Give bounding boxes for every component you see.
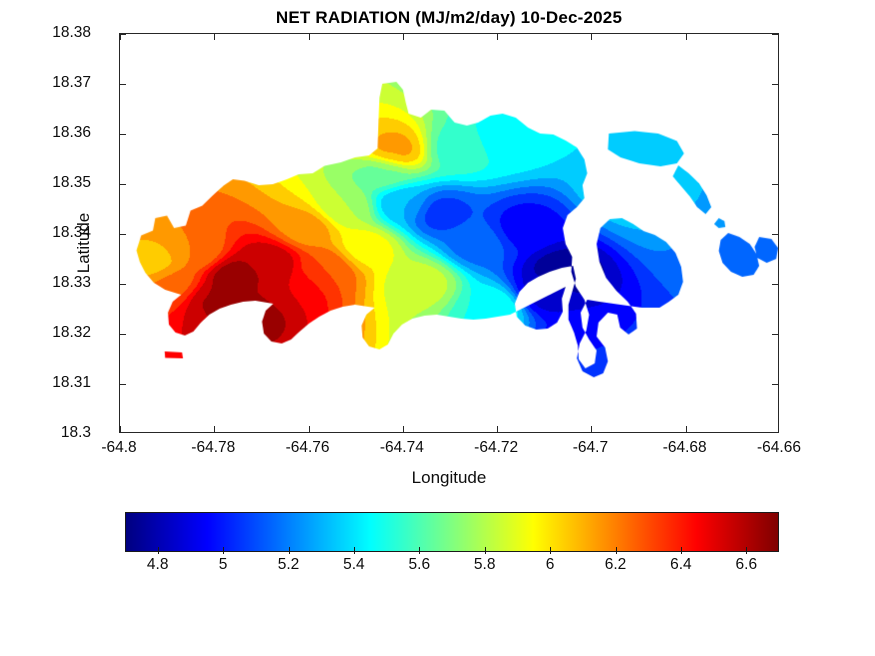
colorbar-tick-label: 6.6 (736, 556, 758, 574)
colorbar-tick (616, 547, 617, 554)
y-tick-label: 18.36 (52, 124, 91, 142)
y-axis-tick (120, 334, 126, 335)
map-axes[interactable] (119, 33, 779, 433)
y-axis-tick (772, 334, 778, 335)
colorbar-tick (158, 547, 159, 554)
colorbar-tick-label: 5.6 (409, 556, 431, 574)
x-tick-label: -64.76 (286, 439, 330, 457)
y-axis-tick (120, 134, 126, 135)
y-axis-tick (120, 234, 126, 235)
x-axis-tick (120, 426, 121, 432)
y-tick-label: 18.3 (61, 424, 91, 442)
colorbar-tick-label: 4.8 (147, 556, 169, 574)
x-axis-tick (497, 34, 498, 40)
colorbar-tick (485, 547, 486, 554)
colorbar-gradient (125, 512, 779, 552)
y-tick-label: 18.38 (52, 24, 91, 42)
y-axis-tick (772, 384, 778, 385)
y-axis-tick (772, 134, 778, 135)
y-axis-title: Latitude (74, 153, 94, 333)
x-axis-tick (214, 426, 215, 432)
x-axis-tick (214, 34, 215, 40)
x-tick-label: -64.74 (380, 439, 424, 457)
x-tick-label: -64.7 (573, 439, 608, 457)
x-axis-tick (403, 426, 404, 432)
y-axis-tick (120, 384, 126, 385)
x-axis-tick (497, 426, 498, 432)
x-axis-title: Longitude (119, 468, 779, 488)
y-axis-tick (120, 34, 126, 35)
colorbar-tick-label: 5 (219, 556, 228, 574)
x-tick-label: -64.66 (757, 439, 801, 457)
y-tick-label: 18.31 (52, 374, 91, 392)
net-radiation-contour-map (120, 34, 778, 432)
colorbar-tick-label: 6.2 (605, 556, 627, 574)
colorbar-tick (419, 547, 420, 554)
colorbar-tick (223, 547, 224, 554)
y-axis-tick (772, 234, 778, 235)
colorbar-tick (289, 547, 290, 554)
colorbar-tick (354, 547, 355, 554)
colorbar-tick-label: 5.8 (474, 556, 496, 574)
colorbar-tick-label: 5.4 (343, 556, 365, 574)
colorbar-tick (681, 547, 682, 554)
figure-canvas: NET RADIATION (MJ/m2/day) 10-Dec-2025 -6… (0, 0, 875, 656)
x-axis-tick (686, 426, 687, 432)
y-axis-tick (772, 34, 778, 35)
x-tick-label: -64.78 (191, 439, 235, 457)
x-axis-tick (309, 426, 310, 432)
x-axis-tick (591, 426, 592, 432)
y-axis-tick (772, 184, 778, 185)
x-axis-tick (309, 34, 310, 40)
colorbar-tick-label: 5.2 (278, 556, 300, 574)
colorbar-tick (550, 547, 551, 554)
colorbar[interactable] (125, 512, 779, 554)
y-axis-tick (772, 84, 778, 85)
x-tick-label: -64.68 (663, 439, 707, 457)
x-axis-tick (403, 34, 404, 40)
colorbar-tick-label: 6 (546, 556, 555, 574)
x-axis-tick (591, 34, 592, 40)
y-axis-tick (120, 184, 126, 185)
x-axis-tick (686, 34, 687, 40)
x-tick-label: -64.72 (474, 439, 518, 457)
y-axis-tick (772, 284, 778, 285)
y-axis-tick (120, 284, 126, 285)
y-tick-label: 18.37 (52, 74, 91, 92)
x-tick-label: -64.8 (101, 439, 136, 457)
colorbar-tick-label: 6.4 (670, 556, 692, 574)
y-axis-tick (120, 84, 126, 85)
colorbar-tick (746, 547, 747, 554)
page-title: NET RADIATION (MJ/m2/day) 10-Dec-2025 (119, 8, 779, 28)
